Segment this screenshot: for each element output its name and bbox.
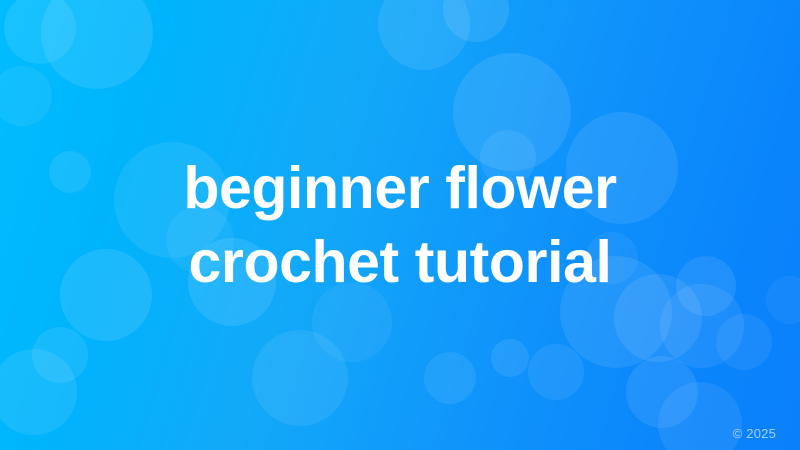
title-line-2: crochet tutorial [188, 225, 611, 299]
thumbnail-card: beginner flower crochet tutorial © 2025 [0, 0, 800, 450]
title-block: beginner flower crochet tutorial [0, 0, 800, 450]
copyright-notice: © 2025 [733, 426, 776, 441]
title-line-1: beginner flower [183, 151, 616, 225]
